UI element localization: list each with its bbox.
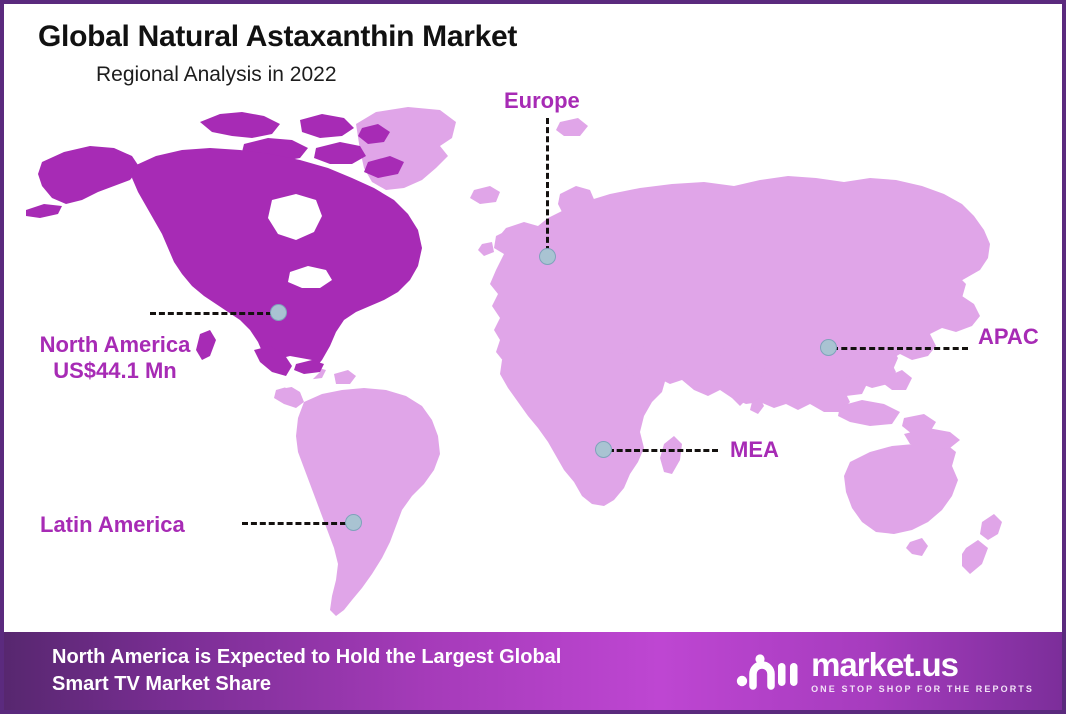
region-label-europe: Europe [504, 88, 580, 114]
leader-line-europe [546, 118, 549, 252]
banner-caption-line-2: Smart TV Market Share [52, 671, 561, 698]
region-label-north-america: North America US$44.1 Mn [20, 332, 210, 384]
page-subtitle: Regional Analysis in 2022 [96, 63, 337, 87]
map-marker-apac [820, 339, 837, 356]
market-us-logo-icon [736, 649, 802, 693]
region-label-latin-america: Latin America [40, 512, 185, 538]
logo-text: market.us ONE STOP SHOP FOR THE REPORTS [811, 648, 1034, 694]
leader-line-north-america [150, 312, 272, 315]
brand-logo[interactable]: market.us ONE STOP SHOP FOR THE REPORTS [736, 648, 1048, 694]
page-title: Global Natural Astaxanthin Market [38, 20, 517, 54]
map-marker-latin-america [345, 514, 362, 531]
map-marker-north-america [270, 304, 287, 321]
bottom-banner: North America is Expected to Hold the La… [4, 632, 1062, 710]
region-label-north-america-name: North America [20, 332, 210, 358]
region-label-mea: MEA [730, 437, 779, 463]
map-marker-europe [539, 248, 556, 265]
banner-caption: North America is Expected to Hold the La… [52, 644, 561, 697]
logo-wordmark: market.us [811, 648, 1034, 681]
infographic-page: Global Natural Astaxanthin Market Region… [0, 0, 1066, 714]
region-label-apac: APAC [978, 324, 1039, 350]
leader-line-latin-america [242, 522, 346, 525]
logo-tagline: ONE STOP SHOP FOR THE REPORTS [811, 685, 1034, 694]
leader-line-mea [608, 449, 718, 452]
region-value-north-america: US$44.1 Mn [20, 358, 210, 384]
banner-caption-line-1: North America is Expected to Hold the La… [52, 644, 561, 671]
map-marker-mea [595, 441, 612, 458]
leader-line-apac [832, 347, 968, 350]
